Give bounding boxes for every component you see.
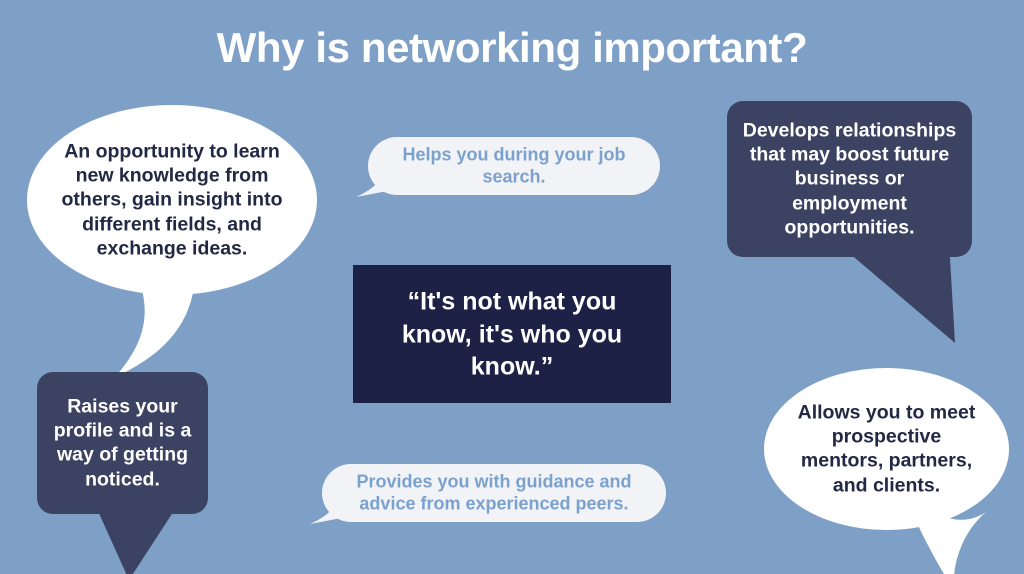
quote-card: “It's not what you know, it's who you kn…: [353, 265, 671, 403]
bubble-raises-profile: Raises your profile and is a way of gett…: [37, 372, 208, 514]
bubble-meet-prospective: Allows you to meet prospective mentors, …: [764, 368, 1009, 530]
infographic-canvas: Why is networking important? An opportun…: [0, 0, 1024, 574]
bubble-text: Helps you during your job search.: [368, 144, 660, 189]
bubble-develops-relationships: Develops relationships that may boost fu…: [727, 101, 972, 257]
bubble-text: Provides you with guidance and advice fr…: [322, 471, 666, 516]
bubble-text: Develops relationships that may boost fu…: [727, 119, 972, 240]
bubble-job-search: Helps you during your job search.: [368, 137, 660, 195]
quote-text: “It's not what you know, it's who you kn…: [353, 285, 671, 383]
bubble-learn-knowledge: An opportunity to learn new knowledge fr…: [27, 105, 317, 295]
bubble-guidance-advice: Provides you with guidance and advice fr…: [322, 464, 666, 522]
bubble-text: Raises your profile and is a way of gett…: [37, 395, 208, 492]
bubble-text: Allows you to meet prospective mentors, …: [764, 401, 1009, 498]
page-title: Why is networking important?: [0, 26, 1024, 70]
bubble-text: An opportunity to learn new knowledge fr…: [27, 140, 317, 261]
